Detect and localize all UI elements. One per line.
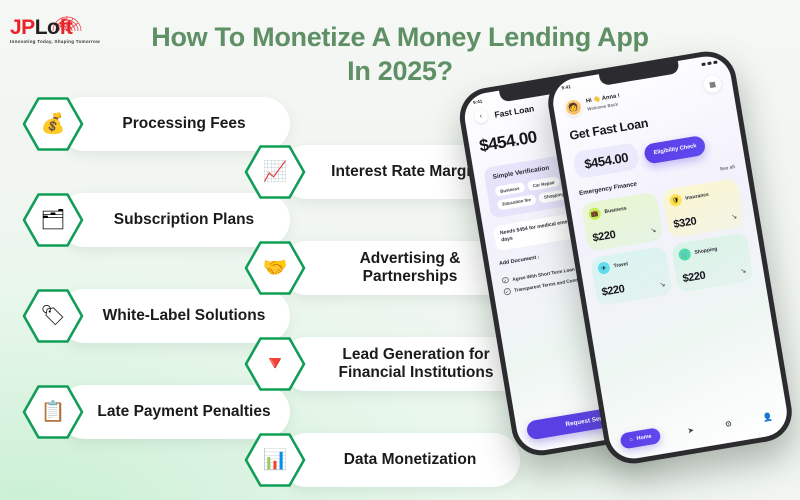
eligibility-check-button[interactable]: Eligibility Check — [643, 134, 707, 164]
arrow-down-right-icon: ↘ — [731, 212, 738, 221]
arrow-down-right-icon: ↘ — [740, 267, 747, 276]
finance-card-amount: $220 — [682, 269, 707, 285]
home-icon: ⌂ — [629, 437, 633, 443]
user-block[interactable]: 🧑 Hi 👋 Anna ! Welcome Back — [564, 91, 622, 117]
list-item-pill[interactable]: Late Payment Penalties — [58, 385, 290, 439]
phone-mockups: 9:41 ‹ Fast Loan $454.00 Simple Verifica… — [470, 60, 800, 480]
fees-coins-icon-glyph: 💰 — [22, 96, 84, 152]
arrow-down-right-icon: ↘ — [659, 280, 666, 289]
cart-icon: 🛒 — [678, 248, 692, 262]
list-item-pill[interactable]: Subscription Plans — [58, 193, 290, 247]
phone-back-title: Fast Loan — [494, 103, 535, 119]
plan-cards-icon: 🗂 — [22, 192, 84, 248]
handshake-gear-icon-glyph: 🤝 — [244, 240, 306, 296]
handshake-gear-icon: 🤝 — [244, 240, 306, 296]
add-document-label: Add Document : — [499, 255, 540, 268]
finance-card-grid: 💼Business$220↘🛡Insurance$320↘✈Travel$220… — [581, 178, 754, 307]
finance-card-footer: $220↘ — [601, 276, 666, 298]
finance-card-header: ✈Travel — [597, 253, 662, 275]
profile-icon[interactable]: 👤 — [758, 411, 777, 423]
plane-icon: ✈ — [597, 261, 611, 275]
finance-card-header: 🛒Shopping — [678, 239, 743, 261]
settings-icon[interactable]: ⚙ — [720, 418, 736, 429]
finance-card[interactable]: 🛒Shopping$220↘ — [671, 232, 754, 293]
growth-chart-icon-glyph: 📈 — [244, 144, 306, 200]
finance-card-label: Business — [604, 206, 627, 216]
list-item-label: Subscription Plans — [58, 211, 290, 229]
finance-card-amount: $320 — [673, 215, 698, 231]
logo-wordmark: JPLoft — [10, 17, 72, 38]
section-title: Emergency Finance — [579, 181, 638, 198]
finance-card-amount: $220 — [601, 283, 626, 299]
finance-card-footer: $220↘ — [682, 263, 747, 285]
lead-funnel-icon-glyph: 🔻 — [244, 336, 306, 392]
finance-card-footer: $320↘ — [673, 208, 738, 230]
list-item-pill[interactable]: Processing Fees — [58, 97, 290, 151]
lead-funnel-icon: 🔻 — [244, 336, 306, 392]
finance-card-label: Travel — [613, 261, 628, 269]
phone-tag-icon-glyph: 🏷 — [22, 288, 84, 344]
list-item-label: Late Payment Penalties — [58, 403, 290, 421]
send-icon[interactable]: ➤ — [683, 424, 699, 435]
nav-home-label: Home — [636, 434, 652, 442]
finance-card-footer: $220↘ — [592, 222, 657, 244]
brand-logo: JPLoft Innovating Today, Shaping Tomorro… — [8, 10, 100, 50]
data-money-icon-glyph: 📊 — [244, 432, 306, 488]
logo-text-o: o — [47, 16, 59, 39]
purpose-chip[interactable]: Car Repair — [527, 176, 560, 191]
check-circle-icon[interactable]: ✓ — [503, 288, 510, 295]
check-circle-icon[interactable]: ✓ — [501, 277, 508, 284]
finance-card-amount: $220 — [592, 229, 617, 245]
plan-cards-icon-glyph: 🗂 — [22, 192, 84, 248]
finance-card-header: 💼Business — [588, 198, 653, 220]
menu-grid-icon[interactable]: ▦ — [703, 74, 723, 94]
list-item-label: White-Label Solutions — [58, 307, 290, 325]
avatar: 🧑 — [564, 98, 584, 118]
gavel-clipboard-icon-glyph: 📋 — [22, 384, 84, 440]
back-chevron-icon[interactable]: ‹ — [474, 109, 489, 124]
arrow-down-right-icon: ↘ — [650, 226, 657, 235]
logo-tagline: Innovating Today, Shaping Tomorrow — [10, 39, 100, 44]
shield-icon: 🛡 — [669, 193, 683, 207]
finance-card[interactable]: 💼Business$220↘ — [581, 191, 664, 252]
phone-tag-icon: 🏷 — [22, 288, 84, 344]
growth-chart-icon: 📈 — [244, 144, 306, 200]
list-item-pill[interactable]: White-Label Solutions — [58, 289, 290, 343]
gavel-clipboard-icon: 📋 — [22, 384, 84, 440]
purpose-chip[interactable]: Business — [494, 182, 525, 197]
logo-text-l: L — [35, 16, 47, 39]
finance-card-label: Shopping — [694, 246, 718, 256]
list-item-label: Processing Fees — [58, 115, 290, 133]
finance-card-header: 🛡Insurance — [669, 185, 734, 207]
finance-card[interactable]: 🛡Insurance$320↘ — [662, 178, 745, 239]
logo-text-jp: JP — [10, 16, 35, 39]
finance-card-label: Insurance — [685, 192, 709, 202]
loan-amount-field[interactable]: $454.00 — [572, 142, 640, 179]
briefcase-icon: 💼 — [588, 207, 602, 221]
fees-coins-icon: 💰 — [22, 96, 84, 152]
logo-text-ft: ft — [59, 16, 72, 39]
see-all-link[interactable]: See all — [720, 165, 736, 172]
data-money-icon: 📊 — [244, 432, 306, 488]
finance-card[interactable]: ✈Travel$220↘ — [590, 246, 673, 307]
purpose-chip[interactable]: Education fee — [497, 194, 537, 210]
